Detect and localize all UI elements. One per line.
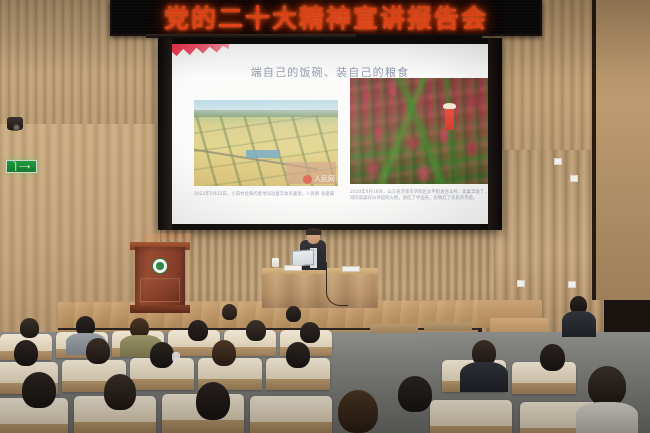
water-pond — [246, 150, 280, 158]
university-seal-emblem — [152, 258, 168, 274]
audience-head — [222, 304, 237, 320]
audience-head — [338, 390, 378, 433]
wood-wall-far-right — [596, 0, 650, 300]
screen-bezel-right — [488, 38, 502, 230]
speaker-hair — [306, 228, 321, 235]
audience-head — [22, 372, 56, 408]
audience-shoulders — [562, 311, 596, 337]
audience-head — [188, 320, 208, 341]
slide-caption-left: 2022年5月22日，小岗村金黄的麦地洋溢着丰收的喜悦。人民网 张俊摄 — [194, 192, 342, 198]
audience-head — [196, 382, 230, 420]
face-mask — [172, 352, 180, 362]
audience-head — [14, 340, 38, 366]
auditorium-photo: 党的二十大精神宣讲报告会 端自己的饭碗、装自己的粮食 人民网 — [0, 0, 650, 433]
wall-seam-right — [592, 0, 596, 300]
slide-photo-sorghum-field — [350, 78, 488, 184]
audience-head — [86, 338, 110, 364]
seat — [430, 400, 512, 433]
farmer-figure — [445, 108, 454, 130]
seat — [250, 396, 332, 433]
red-flag-wave-icon — [172, 44, 230, 66]
watermark-text: 人民网 — [314, 174, 335, 184]
audience-head — [398, 376, 432, 412]
podium-base — [130, 305, 190, 313]
audience-head — [286, 342, 310, 368]
audience-head — [540, 344, 565, 371]
microphone-cable — [326, 262, 348, 306]
stage-step-upper — [490, 318, 548, 332]
audience-head — [286, 306, 301, 322]
audience-head — [246, 320, 266, 341]
audience-shoulders — [576, 402, 638, 433]
podium-front-panel — [140, 278, 180, 302]
sorghum-leaves — [350, 78, 488, 184]
water-cup — [272, 258, 279, 267]
audience-head — [150, 342, 174, 368]
wall-outlet-4 — [568, 281, 576, 288]
camera-lens-icon — [13, 124, 20, 131]
audience-head — [212, 340, 236, 366]
running-person-exit-icon: ⎫⟶ — [13, 163, 30, 171]
audience-head — [104, 374, 136, 410]
wall-outlet-3 — [517, 280, 525, 287]
presentation-slide: 端自己的饭碗、装自己的粮食 人民网 2022年5月22日，小岗村金黄的麦地洋溢着… — [172, 44, 488, 224]
wall-outlet-1 — [554, 158, 562, 165]
slide-caption-right: 2020年9月16日，山东省济南市济阳区太平街道台辛村，高粱丰收了，如海的高粱好… — [350, 190, 488, 202]
audience-head — [20, 318, 39, 338]
farmer-sun-hat — [443, 103, 456, 109]
photo-watermark: 人民网 — [303, 174, 335, 184]
watermark-logo-icon — [303, 175, 312, 184]
audience-head — [588, 366, 626, 406]
screen-bezel-left — [158, 38, 172, 230]
seat-back-panel — [370, 324, 418, 333]
led-banner-text: 党的二十大精神宣讲报告会 — [112, 0, 540, 34]
name-plate-left — [284, 265, 302, 271]
university-name-wall-text: 山东农业大学 — [137, 232, 199, 242]
emergency-exit-sign: ⎫⟶ — [6, 160, 37, 173]
speaker-table-front — [262, 274, 378, 308]
wall-outlet-2 — [570, 175, 578, 182]
slide-photo-aerial-wheat-fields: 人民网 — [194, 100, 338, 186]
led-banner: 党的二十大精神宣讲报告会 — [110, 0, 542, 36]
seat-back-panel — [424, 322, 472, 331]
audience-head — [300, 322, 320, 343]
audience-shoulders — [460, 362, 508, 392]
